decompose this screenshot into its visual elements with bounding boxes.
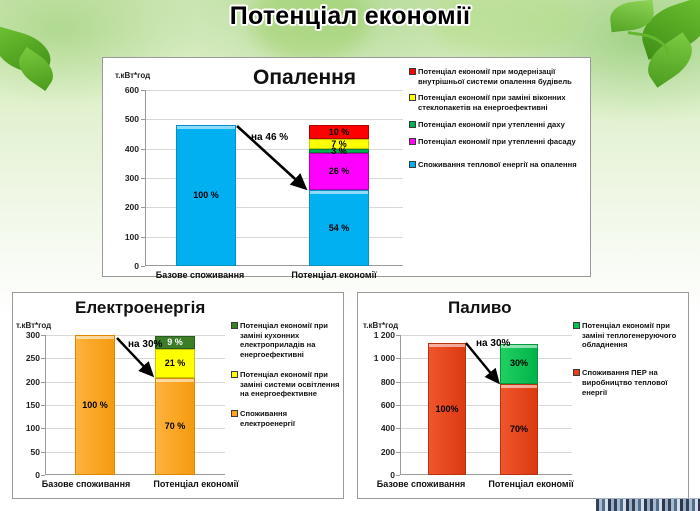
legend-fuel: Потенціал економії при заміні теплогенер… bbox=[573, 321, 689, 415]
legend-label: Споживання електроенергії bbox=[240, 409, 343, 428]
y-tick-label: 200 bbox=[381, 447, 395, 457]
legend-label: Потенціал економії при заміні віконних с… bbox=[418, 93, 587, 112]
legend-swatch-magenta-icon bbox=[409, 138, 416, 145]
legend-item-electricity-consumption[interactable]: Споживання електроенергії bbox=[231, 409, 343, 428]
chart-title-heating: Опалення bbox=[253, 66, 356, 90]
y-tick-label: 1 000 bbox=[374, 353, 395, 363]
y-tick-label: 50 bbox=[31, 447, 40, 457]
legend-item-kitchen-appliances[interactable]: Потенціал економії при заміні кухонних е… bbox=[231, 321, 343, 360]
y-tick-label: 400 bbox=[381, 423, 395, 433]
legend-item-facade[interactable]: Потенціал економії при утепленні фасаду bbox=[409, 137, 587, 147]
legend-item-lighting[interactable]: Потенціал економії при заміні системи ос… bbox=[231, 370, 343, 399]
y-tick-label: 300 bbox=[26, 330, 40, 340]
chart-panel-electricity: Електроенергія т.кВт*год 0 50 100 150 20… bbox=[12, 292, 344, 499]
legend-swatch-yellow-icon bbox=[231, 371, 238, 378]
legend-label: Споживання ПЕР на виробництво теплової е… bbox=[582, 368, 689, 397]
chart-panel-heating: Опалення т.кВт*год 0 100 200 300 400 500… bbox=[102, 57, 591, 277]
x-axis-label-fuel-base: Базове споживання bbox=[366, 479, 476, 489]
building-photo-strip bbox=[596, 498, 700, 511]
x-axis-label-fuel-potential: Потенціал економії bbox=[476, 479, 586, 489]
y-tick-label: 600 bbox=[381, 400, 395, 410]
y-tick-label: 1 200 bbox=[374, 330, 395, 340]
arrow-label-fuel: на 30% bbox=[476, 338, 510, 349]
legend-item-fuel-consumption[interactable]: Споживання ПЕР на виробництво теплової е… bbox=[573, 368, 689, 397]
plot-area-electricity: 0 50 100 150 200 250 300 100 % 7 bbox=[45, 335, 225, 475]
legend-heating: Потенціал економії при модернізації внут… bbox=[409, 67, 587, 177]
y-tick-label: 500 bbox=[125, 114, 139, 124]
plot-area-heating: 0 100 200 300 400 500 600 100 % bbox=[145, 90, 403, 266]
plot-area-fuel: 0 200 400 600 800 1 000 1 200 100% 70% bbox=[400, 335, 572, 475]
y-tick-label: 800 bbox=[381, 377, 395, 387]
decline-arrow-fuel bbox=[400, 335, 572, 475]
legend-swatch-orange-icon bbox=[231, 410, 238, 417]
legend-swatch-darkgreen-icon bbox=[231, 322, 238, 329]
legend-swatch-cyan-icon bbox=[409, 161, 416, 168]
legend-swatch-green-icon bbox=[573, 322, 580, 329]
chart-panel-fuel: Паливо т.кВт*год 0 200 400 600 800 1 000… bbox=[357, 292, 689, 499]
x-axis-label-heating-potential: Потенціал економії bbox=[269, 270, 399, 280]
y-tick-label: 200 bbox=[26, 377, 40, 387]
y-tick-label: 400 bbox=[125, 144, 139, 154]
legend-swatch-red-icon bbox=[409, 68, 416, 75]
page-title: Потенціал економії bbox=[0, 2, 700, 31]
legend-label: Потенціал економії при утепленні даху bbox=[418, 120, 565, 130]
y-axis-unit-heating: т.кВт*год bbox=[115, 71, 150, 80]
legend-label: Споживання теплової енергії на опалення bbox=[418, 160, 577, 170]
legend-item-heat-generation[interactable]: Потенціал економії при заміні теплогенер… bbox=[573, 321, 689, 350]
x-axis-label-electricity-potential: Потенціал економії bbox=[141, 479, 251, 489]
legend-label: Потенціал економії при заміні кухонних е… bbox=[240, 321, 343, 360]
y-tick-label: 100 bbox=[26, 423, 40, 433]
legend-swatch-green-icon bbox=[409, 121, 416, 128]
y-tick-label: 100 bbox=[125, 232, 139, 242]
legend-label: Потенціал економії при заміні теплогенер… bbox=[582, 321, 689, 350]
y-tick-label: 150 bbox=[26, 400, 40, 410]
arrow-label-heating: на 46 % bbox=[251, 132, 288, 143]
chart-title-fuel: Паливо bbox=[448, 298, 512, 318]
slide-canvas: Потенціал економії Опалення т.кВт*год 0 … bbox=[0, 0, 700, 511]
decline-arrow-heating bbox=[145, 90, 403, 266]
legend-label: Потенціал економії при модернізації внут… bbox=[418, 67, 587, 86]
legend-electricity: Потенціал економії при заміні кухонних е… bbox=[231, 321, 343, 438]
chart-title-electricity: Електроенергія bbox=[75, 298, 205, 318]
y-axis-unit-fuel: т.кВт*год bbox=[363, 321, 398, 330]
legend-swatch-red-icon bbox=[573, 369, 580, 376]
arrow-label-electricity: на 30% bbox=[128, 339, 162, 350]
x-axis-label-electricity-base: Базове споживання bbox=[31, 479, 141, 489]
legend-item-roof[interactable]: Потенціал економії при утепленні даху bbox=[409, 120, 587, 130]
y-tick-label: 200 bbox=[125, 202, 139, 212]
y-tick-label: 250 bbox=[26, 353, 40, 363]
decline-arrow-electricity bbox=[45, 335, 225, 475]
legend-swatch-yellow-icon bbox=[409, 94, 416, 101]
y-tick-label: 600 bbox=[125, 85, 139, 95]
legend-item-internal-system[interactable]: Потенціал економії при модернізації внут… bbox=[409, 67, 587, 86]
legend-label: Потенціал економії при заміні системи ос… bbox=[240, 370, 343, 399]
legend-item-windows[interactable]: Потенціал економії при заміні віконних с… bbox=[409, 93, 587, 112]
y-axis-unit-electricity: т.кВт*год bbox=[16, 321, 51, 330]
legend-label: Потенціал економії при утепленні фасаду bbox=[418, 137, 576, 147]
legend-item-heat-consumption[interactable]: Споживання теплової енергії на опалення bbox=[409, 160, 587, 170]
x-axis-label-heating-base: Базове споживання bbox=[135, 270, 265, 280]
y-tick-label: 300 bbox=[125, 173, 139, 183]
